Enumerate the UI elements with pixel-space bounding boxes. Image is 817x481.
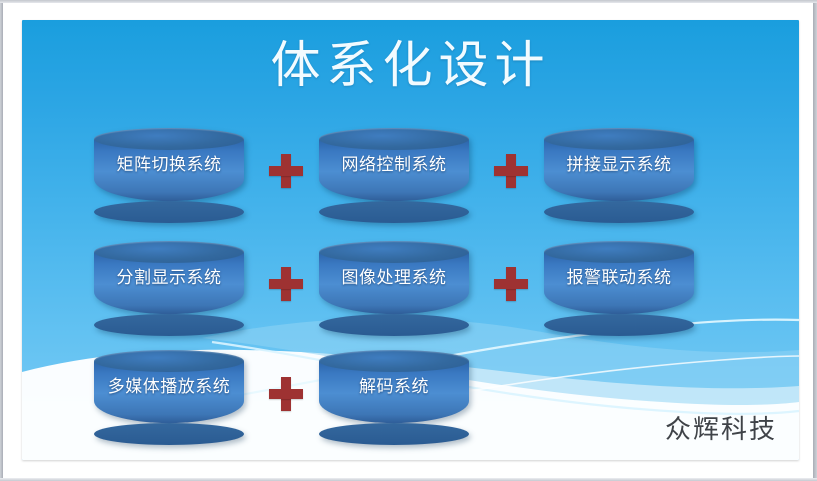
plus-icon — [494, 267, 528, 301]
cylinder-bottom — [319, 201, 469, 223]
plus-icon — [269, 267, 303, 301]
system-diagram: 矩阵切换系统 网络控制系统 — [22, 20, 799, 460]
diagram-node[interactable]: 拼接显示系统 — [544, 128, 694, 212]
diagram-node-label: 分割显示系统 — [88, 267, 250, 289]
diagram-node-label: 网络控制系统 — [313, 154, 475, 176]
diagram-node-label: 图像处理系统 — [313, 267, 475, 289]
slide-page: 体系化设计 矩阵切换系统 — [4, 3, 813, 478]
diagram-node-label: 报警联动系统 — [538, 267, 700, 289]
diagram-node[interactable]: 报警联动系统 — [544, 241, 694, 325]
diagram-node[interactable]: 网络控制系统 — [319, 128, 469, 212]
plus-icon — [494, 154, 528, 188]
cylinder-bottom — [94, 201, 244, 223]
diagram-node-label: 解码系统 — [313, 376, 475, 398]
brand-watermark: 众辉科技 — [665, 409, 777, 446]
cylinder-top — [319, 350, 469, 372]
window-border-left — [0, 0, 3, 481]
cylinder-top — [544, 128, 694, 150]
plus-icon — [269, 154, 303, 188]
diagram-node[interactable]: 解码系统 — [319, 350, 469, 434]
cylinder-bottom — [94, 314, 244, 336]
cylinder-bottom — [544, 314, 694, 336]
presentation-slide[interactable]: 体系化设计 矩阵切换系统 — [22, 20, 799, 460]
diagram-node[interactable]: 多媒体播放系统 — [94, 350, 244, 434]
cylinder-top — [94, 350, 244, 372]
diagram-node-label: 拼接显示系统 — [538, 154, 700, 176]
cylinder-bottom — [544, 201, 694, 223]
cylinder-top — [319, 128, 469, 150]
cylinder-bottom — [319, 314, 469, 336]
cylinder-bottom — [319, 423, 469, 445]
cylinder-bottom — [94, 423, 244, 445]
cylinder-top — [544, 241, 694, 263]
cylinder-top — [94, 128, 244, 150]
diagram-node[interactable]: 矩阵切换系统 — [94, 128, 244, 212]
plus-icon — [269, 377, 303, 411]
diagram-node-label: 矩阵切换系统 — [88, 154, 250, 176]
slide-viewer: 体系化设计 矩阵切换系统 — [0, 0, 817, 481]
diagram-node-label: 多媒体播放系统 — [88, 376, 250, 398]
cylinder-top — [319, 241, 469, 263]
diagram-node[interactable]: 分割显示系统 — [94, 241, 244, 325]
diagram-node[interactable]: 图像处理系统 — [319, 241, 469, 325]
window-border-right — [813, 0, 817, 481]
cylinder-top — [94, 241, 244, 263]
